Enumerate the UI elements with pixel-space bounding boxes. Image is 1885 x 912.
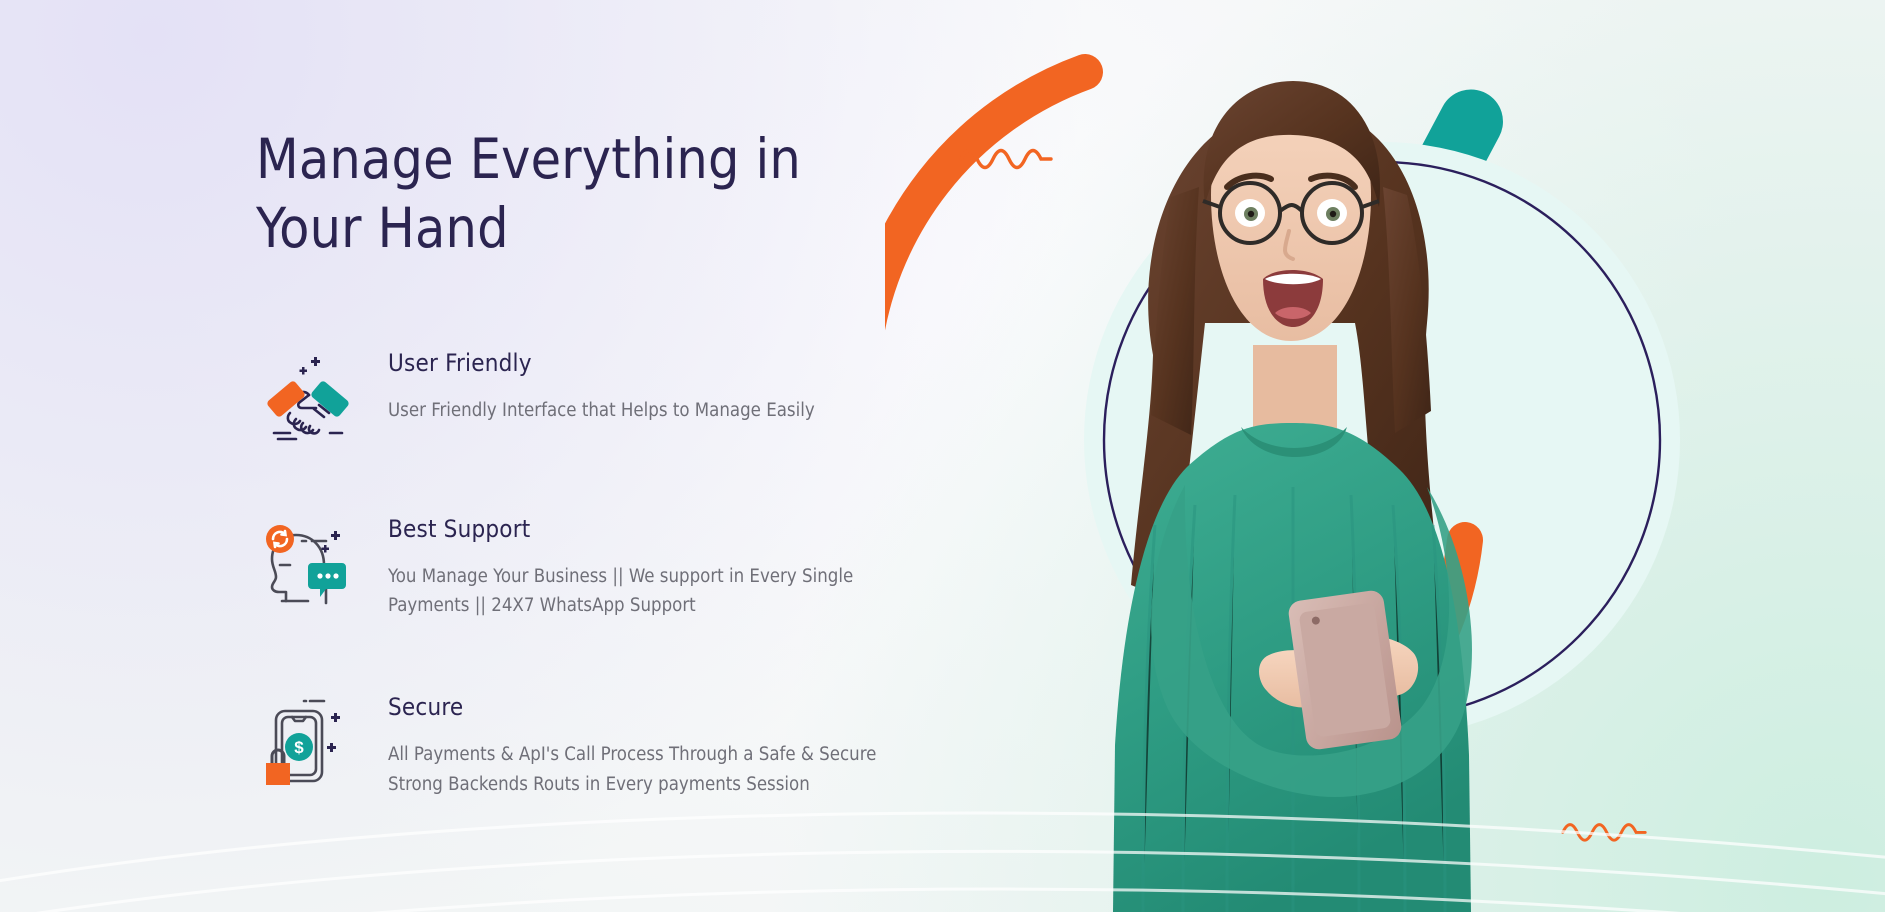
feature-item-best-support: Best Support You Manage Your Business ||… [256,509,956,622]
page-title: Manage Everything in Your Hand [256,125,956,263]
hero-banner: Manage Everything in Your Hand [0,0,1885,912]
orange-squiggle-icon-bottom [1560,815,1670,847]
feature-title: Secure [388,693,876,721]
feature-list: User Friendly User Friendly Interface th… [256,343,956,801]
secure-phone-lock-icon: $ [256,691,352,787]
feature-title: Best Support [388,515,853,543]
feature-description: You Manage Your Business || We support i… [388,562,853,622]
feature-description: User Friendly Interface that Helps to Ma… [388,396,815,426]
feature-item-secure: $ Secure All Payments & ApI's Call Proce… [256,687,956,800]
support-head-chat-icon [256,513,352,609]
excited-woman-with-smartphone-photo [1035,55,1545,912]
svg-text:$: $ [294,738,304,757]
hero-copy: Manage Everything in Your Hand [256,125,956,800]
feature-title: User Friendly [388,349,815,377]
handshake-icon [256,347,352,443]
feature-description: All Payments & ApI's Call Process Throug… [388,740,876,800]
feature-item-user-friendly: User Friendly User Friendly Interface th… [256,343,956,443]
